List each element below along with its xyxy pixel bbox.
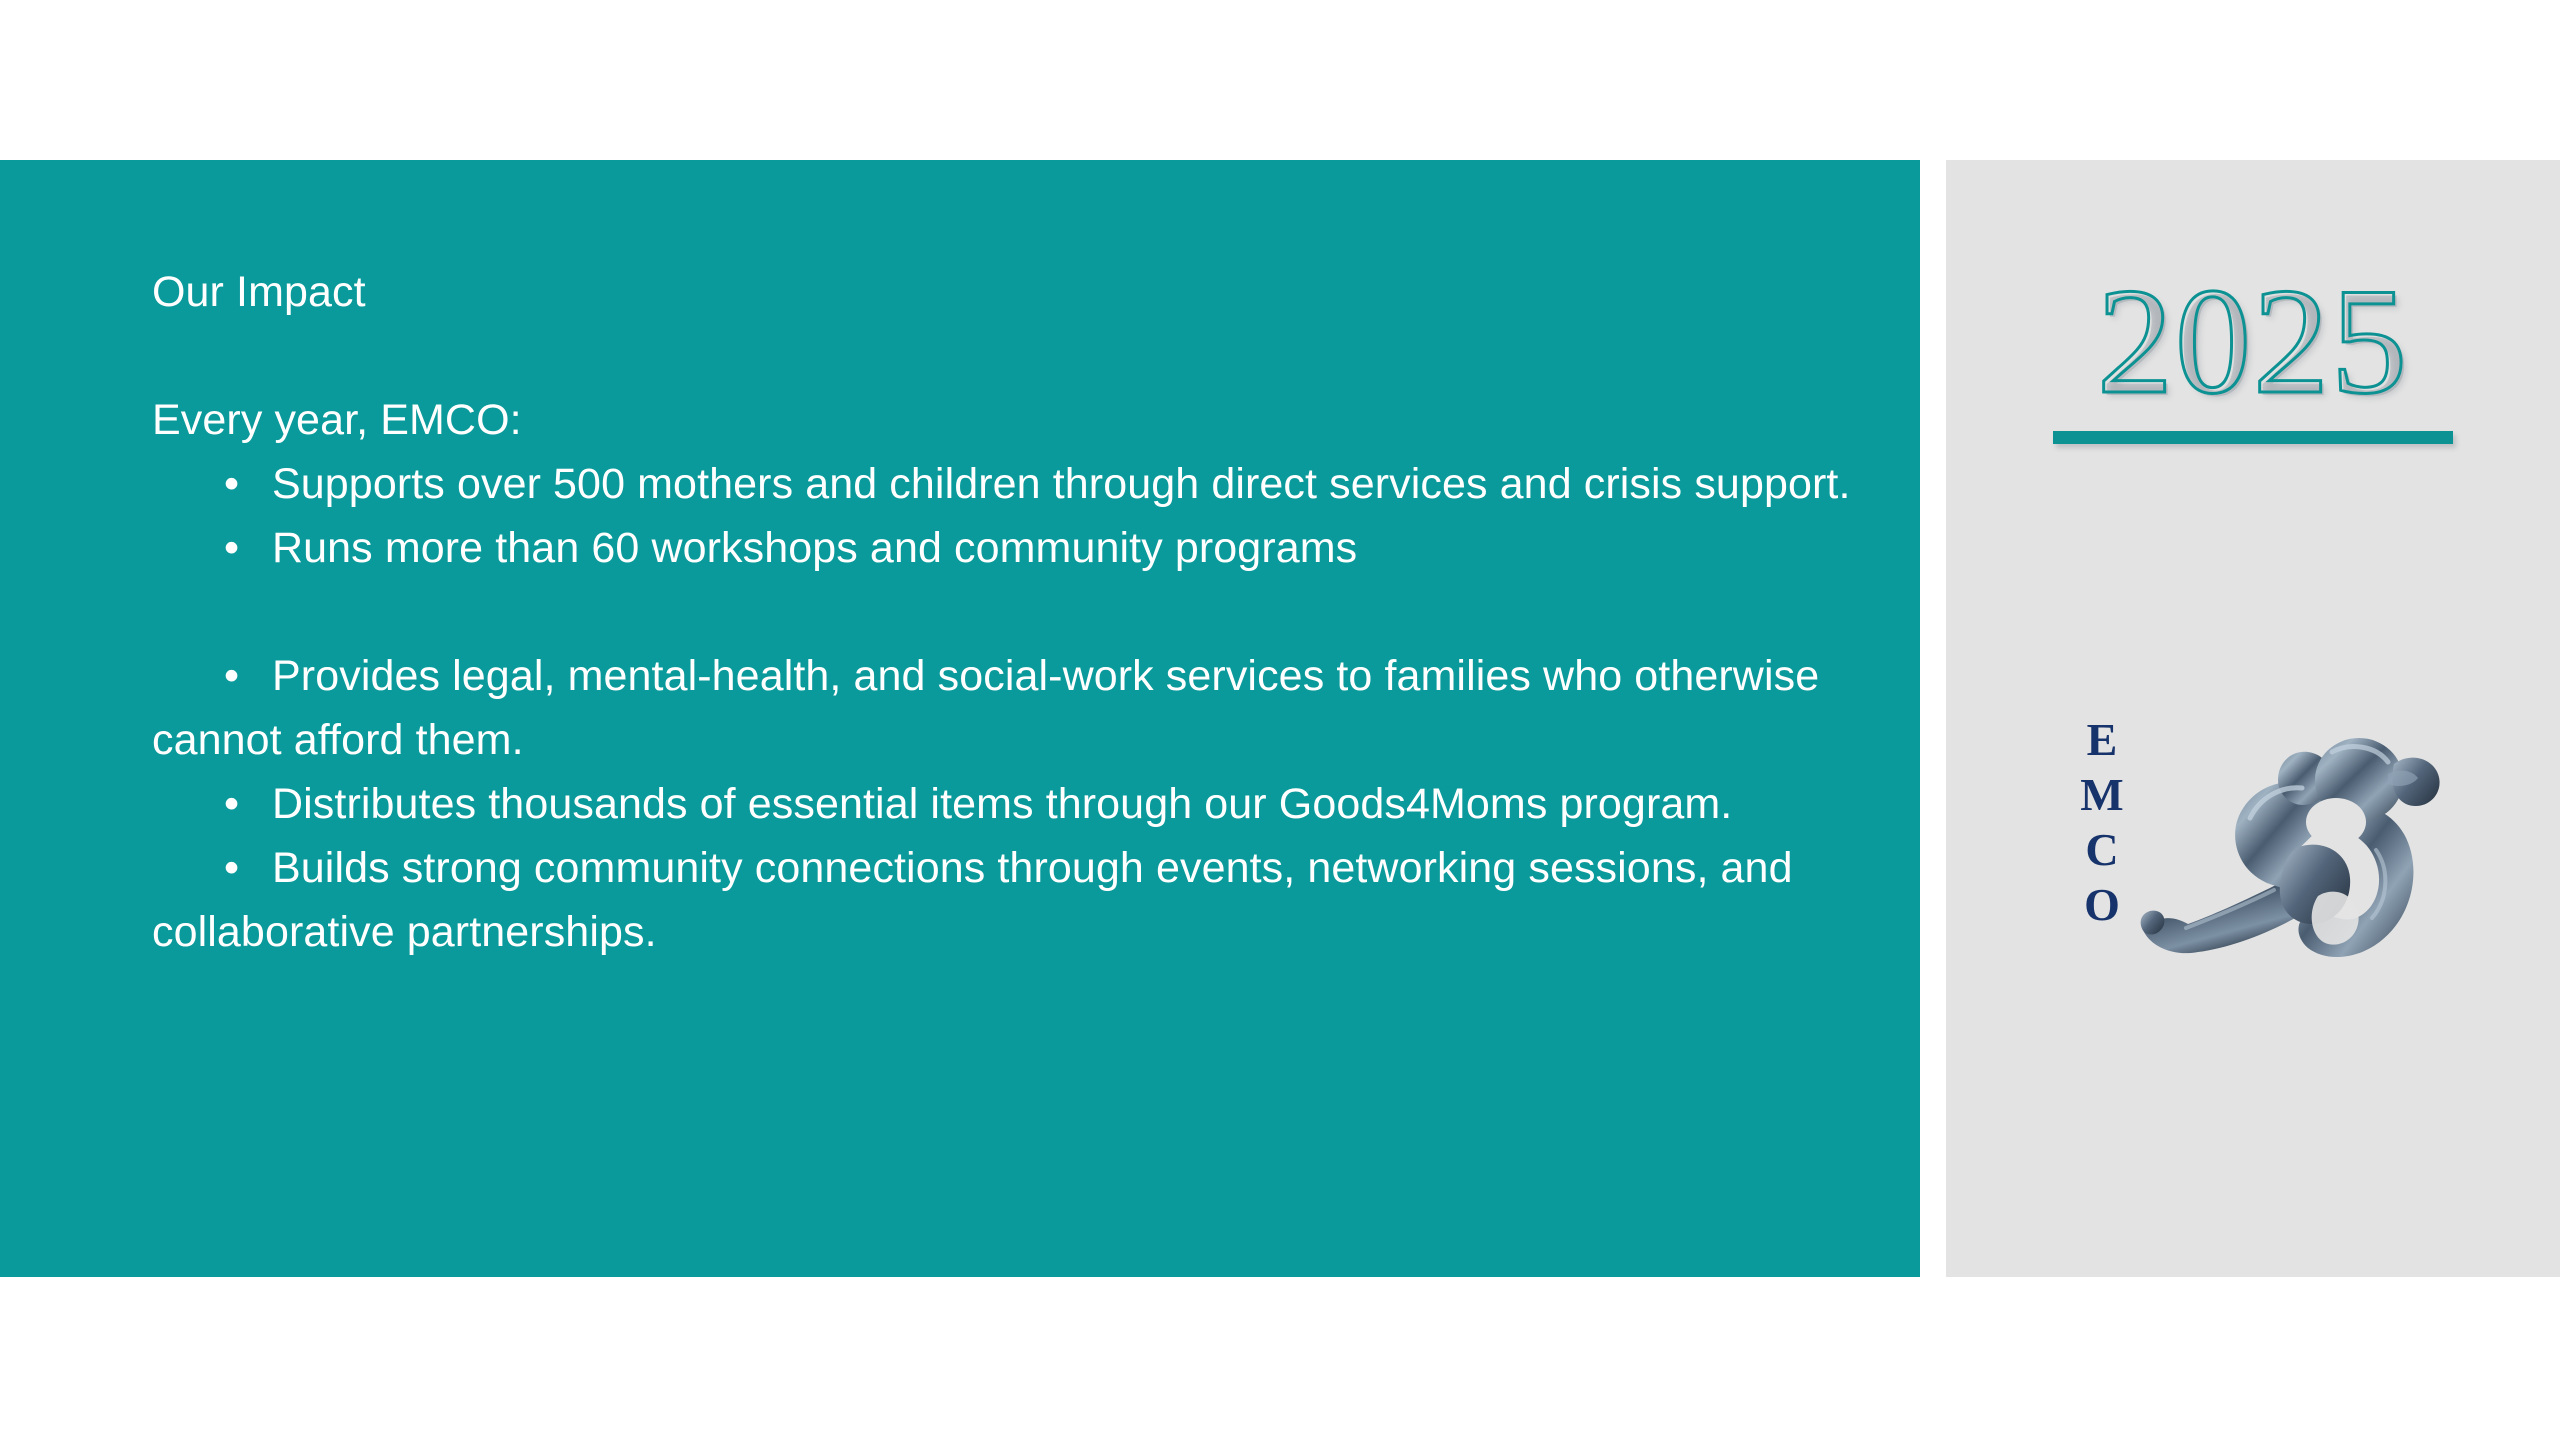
list-item: •Provides legal, mental-health, and soci… (152, 644, 1852, 772)
list-item: •Builds strong community connections thr… (152, 836, 1852, 964)
bullet-icon: • (152, 836, 272, 900)
list-item-text: Supports over 500 mothers and children t… (272, 460, 1851, 508)
list-item: •Distributes thousands of essential item… (152, 772, 1852, 836)
year-underline-rule (2053, 431, 2453, 444)
page-title: Our Impact (152, 260, 1852, 324)
year-label: 2025 (2091, 265, 2415, 417)
content-panel: Our Impact Every year, EMCO: •Supports o… (0, 160, 1920, 1277)
bullet-icon: • (152, 516, 272, 580)
sidebar-panel: 2025 E M C O (1946, 160, 2560, 1277)
year-badge: 2025 (1946, 265, 2560, 444)
list-item-text: Builds strong community connections thro… (152, 844, 1793, 956)
bullet-icon: • (152, 644, 272, 708)
list-item-text: Provides legal, mental-health, and socia… (152, 652, 1819, 764)
slide-canvas: Our Impact Every year, EMCO: •Supports o… (0, 0, 2560, 1440)
list-item-text: Distributes thousands of essential items… (272, 780, 1732, 828)
bullet-gap-spacer (152, 580, 1852, 644)
emco-logo: E M C O (1946, 700, 2560, 1000)
list-item: •Runs more than 60 workshops and communi… (152, 516, 1852, 580)
impact-text-block: Our Impact Every year, EMCO: •Supports o… (152, 260, 1852, 964)
list-item: •Supports over 500 mothers and children … (152, 452, 1852, 516)
title-gap-spacer (152, 324, 1852, 388)
list-item-text: Runs more than 60 workshops and communit… (272, 524, 1357, 572)
bullet-icon: • (152, 452, 272, 516)
mother-and-child-icon (2126, 718, 2456, 968)
intro-line: Every year, EMCO: (152, 388, 1852, 452)
bullet-icon: • (152, 772, 272, 836)
